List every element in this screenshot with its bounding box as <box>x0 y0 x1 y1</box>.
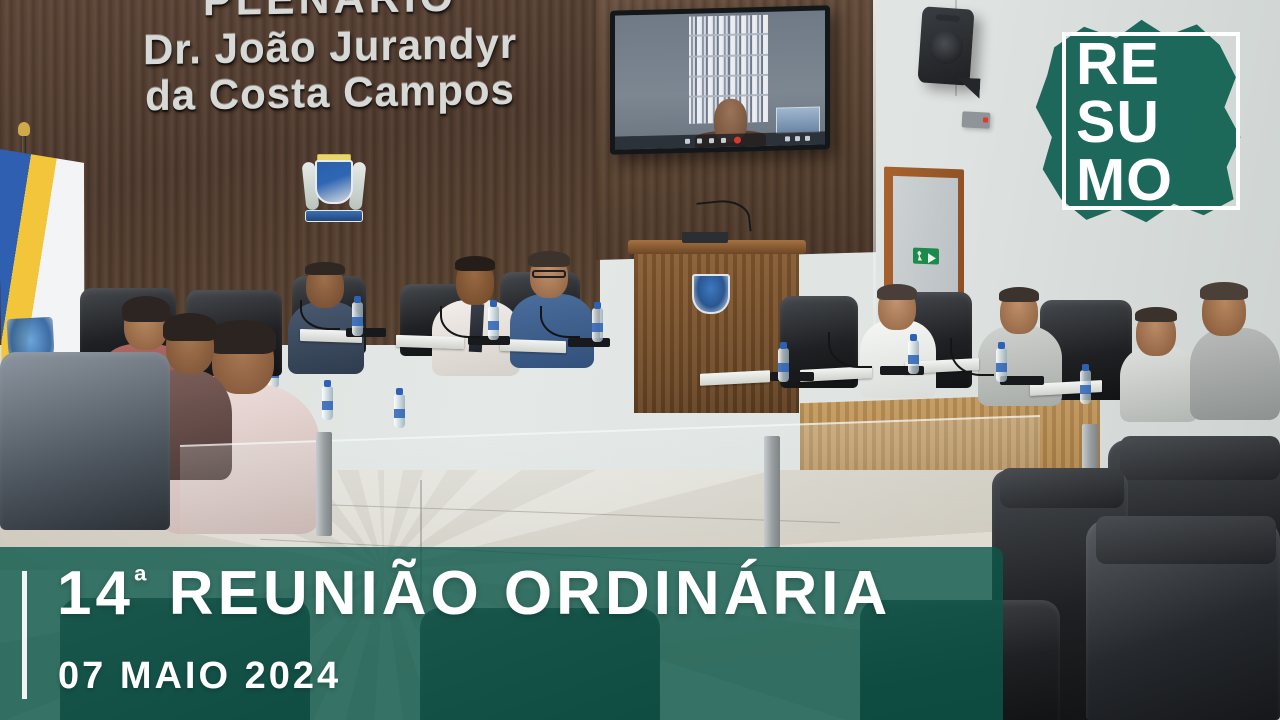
video-call-toolbar <box>615 131 825 149</box>
flag-finial <box>18 122 30 136</box>
crest-shield <box>315 160 353 204</box>
record-indicator-icon <box>734 136 741 143</box>
person <box>1190 284 1280 414</box>
venue-sign-line3: da Costa Campos <box>95 68 565 119</box>
video-frame: PLENÁRIO Dr. João Jurandyr da Costa Camp… <box>0 0 1280 720</box>
microphone-base <box>770 372 814 381</box>
resumo-badge-label: RE SU MO <box>1076 36 1226 209</box>
resumo-line-2: SU <box>1076 94 1226 152</box>
resumo-line-3: MO <box>1076 152 1226 210</box>
meeting-title: 14ª REUNIÃO ORDINÁRIA <box>57 563 891 625</box>
water-bottle <box>778 348 789 382</box>
crest-ribbon <box>305 210 363 222</box>
water-bottle <box>394 394 405 428</box>
meeting-title-rest: REUNIÃO ORDINÁRIA <box>148 559 892 628</box>
speaker-woofer <box>928 29 964 65</box>
alarm-led-icon <box>983 117 988 122</box>
resumo-line-1: RE <box>1076 36 1226 94</box>
chair <box>0 352 170 530</box>
partition-post <box>764 436 780 548</box>
video-call-screen <box>615 10 825 149</box>
person <box>1120 306 1198 414</box>
venue-sign: PLENÁRIO Dr. João Jurandyr da Costa Camp… <box>95 0 565 119</box>
picture-in-picture-thumbnail <box>776 107 820 134</box>
banner-accent-bar <box>22 571 27 699</box>
alarm-strobe <box>962 111 991 128</box>
wall-television <box>610 5 830 154</box>
meeting-number: 14 <box>57 559 134 628</box>
water-bottle <box>352 302 363 336</box>
coat-of-arms-icon <box>303 152 365 224</box>
wall-loudspeaker <box>917 6 974 85</box>
audience-chair-headrest <box>1096 516 1276 564</box>
partition-post <box>316 432 332 536</box>
water-bottle <box>592 308 603 342</box>
audience-chair-headrest <box>1120 436 1280 480</box>
water-bottle <box>1080 370 1091 404</box>
speaker-tribune <box>634 248 799 413</box>
emergency-exit-sign-icon <box>913 247 939 264</box>
microphone-base <box>568 338 610 347</box>
water-bottle <box>322 386 333 420</box>
tribune-coat-of-arms <box>692 274 730 314</box>
audience-chair-headrest <box>1000 468 1124 508</box>
water-bottle <box>996 348 1007 382</box>
nameplate <box>396 335 464 349</box>
speaker-tweeter <box>936 14 960 22</box>
water-bottle <box>488 306 499 340</box>
exit-arrow-icon <box>928 253 936 263</box>
water-bottle <box>908 340 919 374</box>
meeting-ordinal: ª <box>134 562 148 600</box>
meeting-date: 07 MAIO 2024 <box>58 657 341 695</box>
